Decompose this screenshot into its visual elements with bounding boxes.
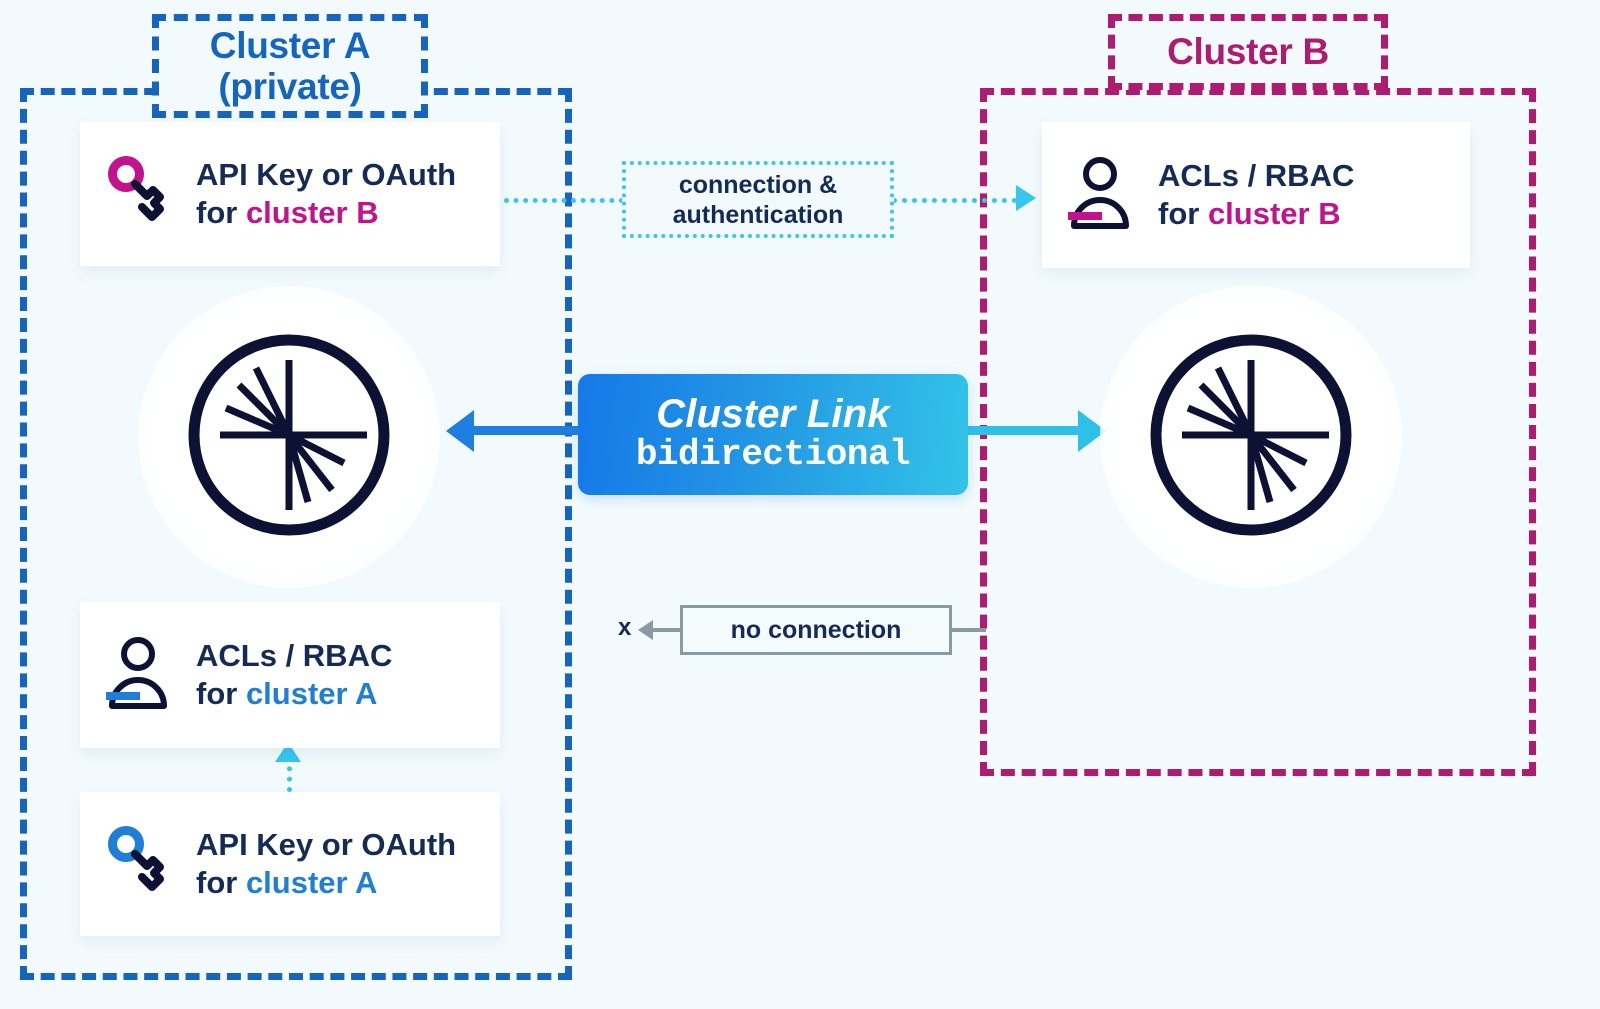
card-acls-rbac-for-cluster-b: ACLs / RBAC for cluster B — [1042, 122, 1470, 268]
cluster-b-node — [1100, 286, 1402, 588]
cluster-a-title-line1: Cluster A — [210, 25, 370, 66]
card-line-2-prefix: for — [196, 195, 246, 230]
card-line-2-highlight: cluster B — [246, 195, 379, 230]
cluster-link-badge: Cluster Link bidirectional — [578, 374, 968, 495]
card-line-2: for cluster A — [196, 864, 456, 902]
card-line-2: for cluster A — [196, 675, 392, 713]
arrow-left-icon — [446, 410, 474, 452]
card-text: API Key or OAuth for cluster B — [196, 156, 456, 232]
card-line-2-highlight: cluster A — [246, 676, 378, 711]
card-line-1: ACLs / RBAC — [196, 637, 392, 675]
card-api-key-for-cluster-b: API Key or OAuth for cluster B — [80, 122, 500, 266]
card-line-2: for cluster B — [1158, 195, 1354, 233]
card-line-2-highlight: cluster B — [1208, 196, 1341, 231]
cluster-link-title: Cluster Link — [656, 393, 890, 435]
key-icon — [102, 150, 178, 238]
cluster-link-subtitle: bidirectional — [636, 435, 910, 475]
diagram-canvas: Cluster A (private) Cluster B API Key or… — [0, 0, 1600, 1009]
card-line-2-prefix: for — [196, 676, 246, 711]
card-text: API Key or OAuth for cluster A — [196, 826, 456, 902]
card-line-2-highlight: cluster A — [246, 865, 378, 900]
card-line-1: ACLs / RBAC — [1158, 157, 1354, 195]
no-connection-line-right — [952, 628, 986, 632]
key-icon — [102, 820, 178, 908]
user-acl-icon — [1064, 151, 1140, 239]
card-line-2: for cluster B — [196, 194, 456, 232]
card-line-2-prefix: for — [1158, 196, 1208, 231]
connection-auth-line-2: authentication — [673, 200, 844, 230]
cluster-a-node — [138, 286, 440, 588]
card-api-key-for-cluster-a: API Key or OAuth for cluster A — [80, 792, 500, 936]
no-connection-x-marker: x — [618, 614, 631, 642]
no-connection-line-left — [650, 628, 682, 632]
confluent-logo-icon — [1146, 330, 1356, 545]
connection-auth-line-left — [504, 198, 624, 203]
confluent-logo-icon — [184, 330, 394, 545]
card-text: ACLs / RBAC for cluster B — [1158, 157, 1354, 233]
connection-auth-arrow-icon — [1016, 185, 1036, 211]
no-connection-box: no connection — [680, 605, 952, 655]
connection-auth-line-right — [892, 198, 1017, 203]
cluster-a-title: Cluster A (private) — [152, 14, 428, 118]
connection-auth-line-1: connection & — [679, 170, 837, 200]
no-connection-label: no connection — [731, 616, 902, 645]
cluster-a-title-line2: (private) — [218, 66, 361, 107]
card-line-1: API Key or OAuth — [196, 826, 456, 864]
no-connection-arrow-icon — [638, 620, 653, 640]
cluster-b-title-line1: Cluster B — [1167, 31, 1329, 72]
user-acl-icon — [102, 631, 178, 719]
cluster-b-title: Cluster B — [1108, 14, 1388, 90]
card-acls-rbac-for-cluster-a: ACLs / RBAC for cluster A — [80, 602, 500, 748]
card-line-2-prefix: for — [196, 865, 246, 900]
card-line-1: API Key or OAuth — [196, 156, 456, 194]
cluster-link-arrow-left-shaft — [468, 426, 584, 435]
connection-auth-label: connection & authentication — [622, 161, 894, 238]
cluster-link-arrow-right-shaft — [962, 426, 1080, 435]
card-text: ACLs / RBAC for cluster A — [196, 637, 392, 713]
